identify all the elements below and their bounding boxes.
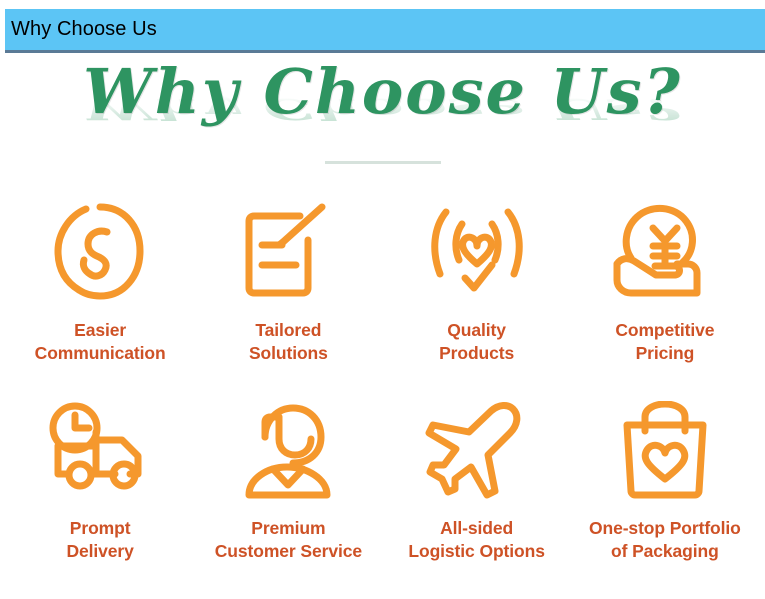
titlebar-container: Why Choose Us [0,0,765,53]
feature-grid: Easier Communication Tailored Solutions [0,197,765,593]
feature-item-prompt-delivery: Prompt Delivery [6,395,194,593]
heading-divider [325,161,441,164]
feature-label: All-sided Logistic Options [408,517,544,563]
hero-section: Why Choose Us? Why Choose Us? [0,61,765,171]
feature-label: Tailored Solutions [249,319,328,365]
feature-label: Premium Customer Service [215,517,362,563]
window-title: Why Choose Us [5,18,157,41]
feature-item-tailored-solutions: Tailored Solutions [194,197,382,395]
document-pencil-icon [238,197,338,307]
shopping-bag-heart-icon [615,395,715,505]
delivery-truck-clock-icon [44,395,156,505]
feature-item-packaging-portfolio: One-stop Portfolio of Packaging [571,395,759,593]
hand-coin-yen-icon [611,197,719,307]
feature-label: Prompt Delivery [66,517,133,563]
feature-label: Easier Communication [35,319,166,365]
airplane-icon [425,395,529,505]
feature-item-competitive-pricing: Competitive Pricing [571,197,759,395]
feature-label: One-stop Portfolio of Packaging [589,517,741,563]
feature-item-logistic-options: All-sided Logistic Options [383,395,571,593]
window-titlebar: Why Choose Us [5,9,765,53]
headset-agent-icon [235,395,341,505]
feature-item-premium-customer-service: Premium Customer Service [194,395,382,593]
ear-listening-icon [52,197,148,307]
page-title: Why Choose Us? [83,61,682,123]
feature-item-easier-communication: Easier Communication [6,197,194,395]
feature-label: Competitive Pricing [615,319,714,365]
feature-item-quality-products: Quality Products [383,197,571,395]
heart-signal-check-icon [424,197,530,307]
feature-label: Quality Products [439,319,514,365]
